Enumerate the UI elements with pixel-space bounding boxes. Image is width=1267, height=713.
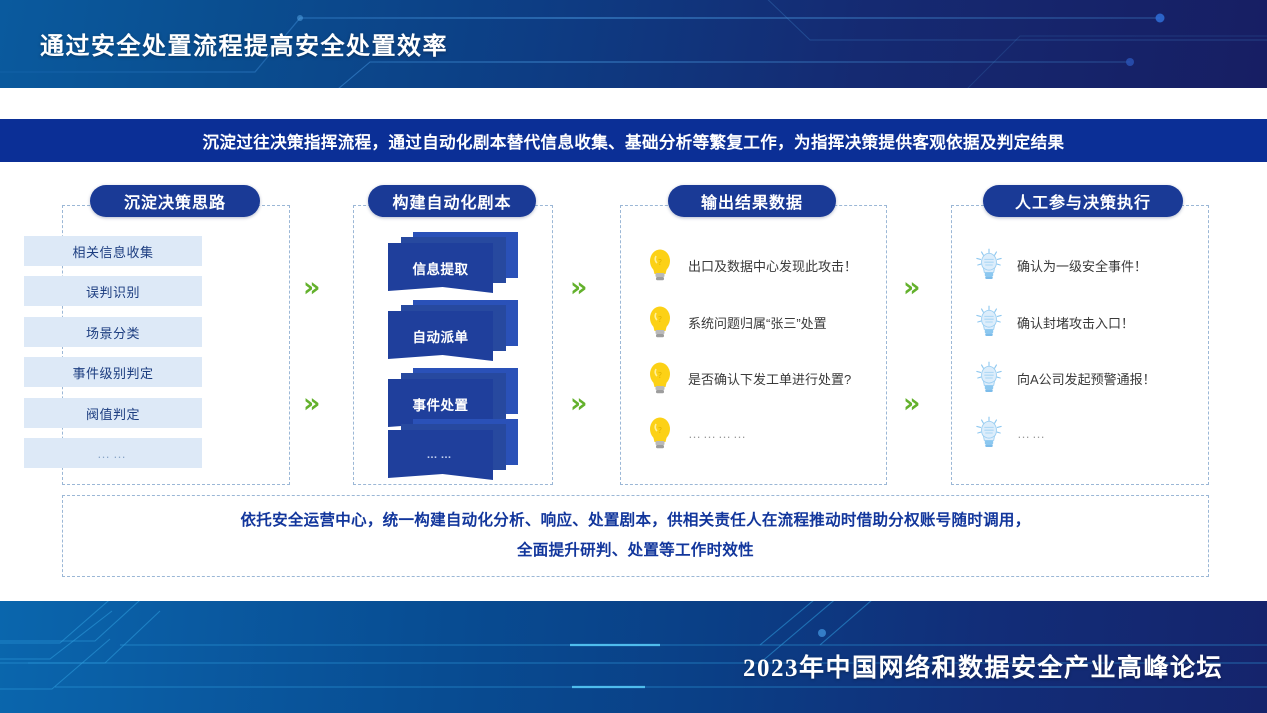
svg-text:?: ?: [658, 426, 662, 435]
list-item-label: ……: [1017, 426, 1047, 441]
chevron-right-icon: »: [570, 274, 581, 301]
card-layer-front: 信息提取: [388, 243, 493, 293]
lightbulb-blue-icon: [975, 248, 1003, 282]
slide-root: 通过安全处置流程提高安全处置效率 沉淀过往决策指挥流程，通过自动化剧本替代信息收…: [0, 0, 1267, 713]
svg-text:?: ?: [658, 371, 662, 380]
list-item-label: 确认封堵攻击入口！: [1017, 313, 1134, 332]
column-header-pill-1[interactable]: 沉淀决策思路: [90, 185, 260, 217]
lightbulb-yellow-icon: ?: [646, 248, 674, 282]
column-header-pill-3[interactable]: 输出结果数据: [668, 185, 836, 217]
footer-title: 2023年中国网络和数据安全产业高峰论坛: [743, 648, 1223, 684]
list-item[interactable]: ? 系统问题归属“张三”处置: [646, 305, 827, 339]
list-item-label: 是否确认下发工单进行处置?: [688, 369, 851, 388]
list-item[interactable]: 确认封堵攻击入口！: [975, 305, 1134, 339]
card-layer-front: 自动派单: [388, 311, 493, 361]
list-item[interactable]: 事件级别判定: [24, 357, 202, 387]
column-header-pill-2[interactable]: 构建自动化剧本: [368, 185, 536, 217]
list-item[interactable]: ……: [975, 416, 1047, 450]
footer-banner: 2023年中国网络和数据安全产业高峰论坛: [0, 601, 1267, 713]
chevron-right-icon: »: [303, 274, 314, 301]
summary-note-box: 依托安全运营中心，统一构建自动化分析、响应、处置剧本，供相关责任人在流程推动时借…: [62, 495, 1209, 577]
lightbulb-yellow-icon: ?: [646, 416, 674, 450]
list-item-label: 系统问题归属“张三”处置: [688, 313, 827, 332]
page-title: 通过安全处置流程提高安全处置效率: [40, 26, 448, 61]
list-item-label: 向A公司发起预警通报！: [1017, 369, 1156, 388]
header-banner: 通过安全处置流程提高安全处置效率: [0, 0, 1267, 88]
stacked-card[interactable]: 信息提取: [388, 232, 518, 290]
lightbulb-yellow-icon: ?: [646, 361, 674, 395]
list-item[interactable]: 确认为一级安全事件！: [975, 248, 1147, 282]
chevron-right-icon: »: [570, 390, 581, 417]
column-header-pill-4[interactable]: 人工参与决策执行: [983, 185, 1183, 217]
lightbulb-blue-icon: [975, 416, 1003, 450]
chevron-right-icon: »: [903, 274, 914, 301]
lightbulb-yellow-icon: ?: [646, 305, 674, 339]
list-item[interactable]: 向A公司发起预警通报！: [975, 361, 1156, 395]
svg-text:?: ?: [658, 315, 662, 324]
list-item-label: …………: [688, 426, 748, 441]
list-item-label: 确认为一级安全事件！: [1017, 256, 1147, 275]
list-item[interactable]: 误判识别: [24, 276, 202, 306]
list-item[interactable]: ……: [24, 438, 202, 468]
stacked-card[interactable]: ……: [388, 419, 518, 477]
list-item[interactable]: 相关信息收集: [24, 236, 202, 266]
subtitle-bar: 沉淀过往决策指挥流程，通过自动化剧本替代信息收集、基础分析等繁复工作，为指挥决策…: [0, 119, 1267, 162]
summary-note-line-1: 依托安全运营中心，统一构建自动化分析、响应、处置剧本，供相关责任人在流程推动时借…: [240, 506, 1030, 536]
list-item[interactable]: 阀值判定: [24, 398, 202, 428]
list-item[interactable]: ? 是否确认下发工单进行处置?: [646, 361, 851, 395]
chevron-right-icon: »: [903, 390, 914, 417]
list-item[interactable]: ? …………: [646, 416, 748, 450]
subtitle-text: 沉淀过往决策指挥流程，通过自动化剧本替代信息收集、基础分析等繁复工作，为指挥决策…: [203, 129, 1065, 153]
svg-text:?: ?: [658, 258, 662, 267]
list-item[interactable]: 场景分类: [24, 317, 202, 347]
list-item-label: 出口及数据中心发现此攻击！: [688, 256, 857, 275]
summary-note-line-2: 全面提升研判、处置等工作时效性: [517, 536, 754, 566]
list-item[interactable]: ? 出口及数据中心发现此攻击！: [646, 248, 857, 282]
stacked-card[interactable]: 自动派单: [388, 300, 518, 358]
stacked-card[interactable]: 事件处置: [388, 368, 518, 426]
lightbulb-blue-icon: [975, 305, 1003, 339]
chevron-right-icon: »: [303, 390, 314, 417]
lightbulb-blue-icon: [975, 361, 1003, 395]
card-layer-front: ……: [388, 430, 493, 480]
